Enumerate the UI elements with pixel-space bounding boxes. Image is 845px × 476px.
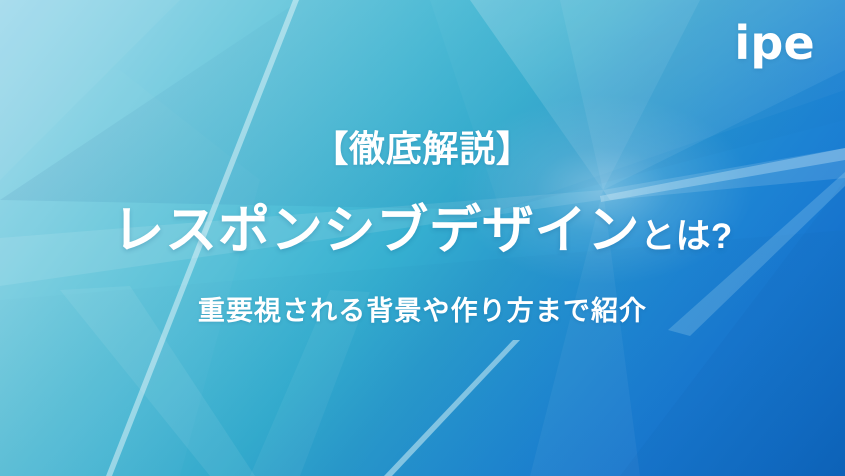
facet-shade-bottom [0,230,845,476]
facet-ray-down [530,190,640,476]
facet-v-ray-left [60,286,255,476]
brand-logo: ipe [734,20,815,66]
headline: レスポンシブデザインとは? [0,203,845,260]
facet-shade-corner [0,0,180,180]
headline-main: レスポンシブデザイン [112,202,640,260]
facet-shade-top [0,0,845,210]
background-facet-pattern [0,0,845,476]
facet-ray-up [560,0,700,190]
light-convergence-hotspot [453,95,753,285]
headline-suffix: とは? [640,217,732,256]
subtitle-text: 重要視される背景や作り方まで紹介 [0,295,845,327]
facet-ray-right [603,148,845,200]
facet-shade-right [620,180,845,476]
facet-hairline-lower [384,340,520,476]
banner-hero: ipe 【徹底解説】 レスポンシブデザインとは? 重要視される背景や作り方まで紹… [0,0,845,476]
hero-text-block: 【徹底解説】 レスポンシブデザインとは? 重要視される背景や作り方まで紹介 [0,0,845,476]
facet-ray-left [0,190,603,286]
kicker-text: 【徹底解説】 [0,128,845,169]
facet-hairline-diag [668,172,845,336]
facet-hairline-left [106,0,299,476]
facet-v-ray-right [250,290,370,476]
facet-edge-left [0,70,260,476]
facet-hairline-right [600,148,845,202]
